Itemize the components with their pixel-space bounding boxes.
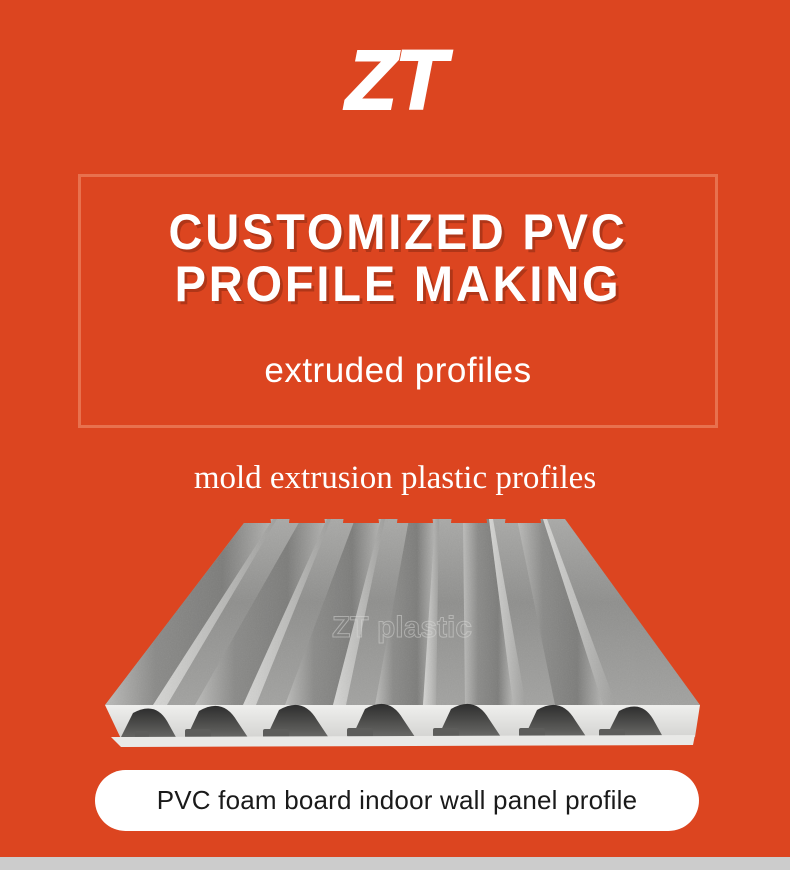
watermark-text: ZT plastic (332, 611, 472, 644)
tagline: mold extrusion plastic profiles (0, 458, 790, 498)
headline-subtitle: extruded profiles (78, 350, 718, 392)
bottom-strip (0, 857, 790, 870)
zt-logo: ZT (0, 38, 790, 122)
panel-cross-section (105, 704, 700, 747)
caption-text: PVC foam board indoor wall panel profile (157, 785, 638, 816)
product-image: ZT plastic (95, 505, 710, 750)
headline-line-2: PROFILE MAKING (97, 258, 699, 310)
headline-line-1: CUSTOMIZED PVC (97, 206, 699, 258)
fluted-panel-illustration: ZT plastic (95, 505, 710, 750)
promo-banner: ZT CUSTOMIZED PVC PROFILE MAKING extrude… (0, 0, 790, 870)
headline: CUSTOMIZED PVC PROFILE MAKING (97, 206, 699, 310)
panel-top-scallops (95, 505, 710, 523)
caption-pill: PVC foam board indoor wall panel profile (95, 770, 699, 831)
